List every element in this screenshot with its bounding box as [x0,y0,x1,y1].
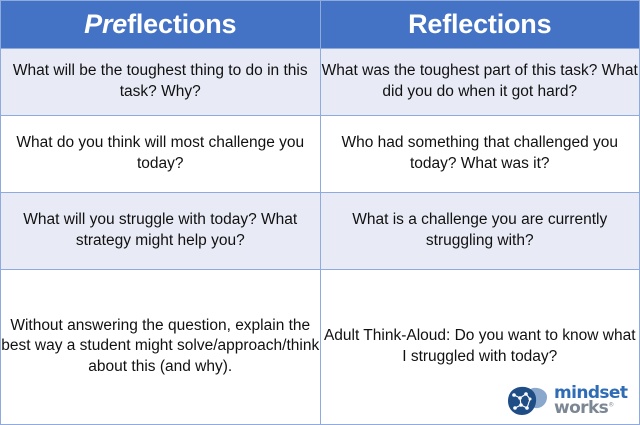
header-prefix-pre: Pre [84,9,127,39]
cell-preflection-2: What do you think will most challenge yo… [1,115,321,192]
logo-word-works: works® [554,401,627,416]
preflections-reflections-sheet: Preflections Reflections What will be th… [0,0,640,425]
table-row: What will you struggle with today? What … [1,192,640,269]
table-row: What will be the toughest thing to do in… [1,49,640,116]
preflections-reflections-table: Preflections Reflections What will be th… [0,0,640,425]
table-header: Preflections Reflections [1,1,640,49]
logo-wordmark: mindset works® [554,386,627,416]
column-header-preflections: Preflections [1,1,321,49]
cell-preflection-1: What will be the toughest thing to do in… [1,49,321,116]
cell-preflection-3: What will you struggle with today? What … [1,192,321,269]
table-row: What do you think will most challenge yo… [1,115,640,192]
cell-reflection-1: What was the toughest part of this task?… [320,49,640,116]
header-text-reflections: Reflections [408,9,551,39]
header-suffix-flections: flections [127,9,236,39]
registered-trademark-icon: ® [608,401,613,408]
cell-reflection-3: What is a challenge you are currently st… [320,192,640,269]
header-row: Preflections Reflections [1,1,640,49]
cell-preflection-4: Without answering the question, explain … [1,269,321,424]
cell-reflection-2: Who had something that challenged you to… [320,115,640,192]
table-body: What will be the toughest thing to do in… [1,49,640,425]
brain-icon [506,385,550,417]
column-header-reflections: Reflections [320,1,640,49]
mindset-works-logo: mindset works® [506,383,632,419]
logo-word-works-text: works [554,398,608,418]
